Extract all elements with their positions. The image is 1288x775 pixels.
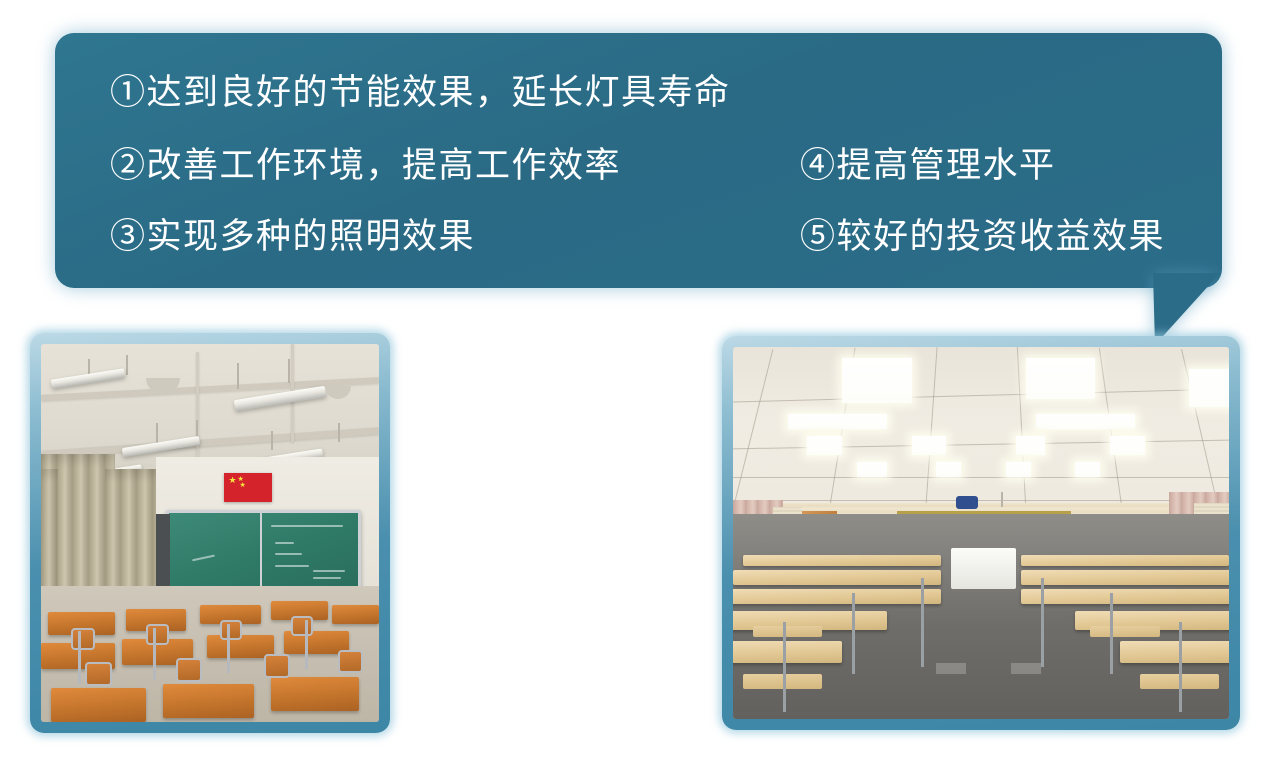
led-panel-light: [788, 414, 887, 429]
led-panel-light: [1189, 369, 1229, 406]
student-desk: [1120, 641, 1229, 663]
student-seat: [753, 626, 822, 637]
desk-leg: [1110, 593, 1113, 675]
student-desk: [51, 688, 146, 722]
chalk-writing: [271, 525, 343, 527]
student-desk: [733, 570, 941, 585]
lamp-rod: [156, 423, 158, 443]
student-chair: [146, 624, 169, 645]
benefits-callout: ①达到良好的节能效果，延长灯具寿命 ②改善工作环境，提高工作效率 ③实现多种的照…: [40, 18, 1240, 338]
photo-before-classroom: ★ ★ ★: [30, 333, 390, 733]
led-panel-light: [1036, 414, 1135, 429]
led-panel-light: [1016, 436, 1046, 455]
desk-leg: [153, 628, 156, 681]
student-desk: [733, 641, 842, 663]
student-desk: [1021, 589, 1229, 604]
led-panel-light: [857, 462, 887, 477]
benefit-item-5: ⑤较好的投资收益效果: [800, 219, 1165, 254]
student-desk: [1021, 570, 1229, 585]
photo-after-classroom: [722, 336, 1240, 730]
student-chair: [338, 650, 363, 673]
ceiling-grid-line: [733, 500, 1229, 501]
chalk-writing: [313, 577, 341, 579]
lamp-rod: [288, 359, 290, 383]
photo-before-image: ★ ★ ★: [41, 344, 379, 722]
student-desk: [271, 677, 359, 711]
benefit-item-3: ③实现多种的照明效果: [110, 219, 475, 254]
desk-leg: [1179, 622, 1182, 711]
chalk-writing: [275, 565, 309, 567]
student-desk: [332, 605, 379, 624]
student-desk: [1021, 555, 1229, 566]
lamp-rod: [338, 423, 340, 442]
wall-speaker: [156, 514, 170, 597]
student-chair: [291, 616, 313, 636]
led-panel-light: [1006, 462, 1031, 477]
desk-leg: [78, 631, 81, 684]
desk-leg: [783, 622, 786, 711]
student-chair: [264, 654, 290, 678]
chalk-writing: [275, 553, 301, 555]
floor-tile: [936, 663, 966, 674]
floor-tile: [1011, 663, 1041, 674]
chalk-writing: [275, 542, 294, 544]
benefit-item-1: ①达到良好的节能效果，延长灯具寿命: [110, 75, 731, 110]
desk-leg: [1041, 578, 1044, 667]
national-flag: ★ ★ ★: [224, 473, 272, 502]
student-desk: [733, 589, 941, 604]
student-chair: [220, 620, 242, 640]
led-panel-light: [1026, 358, 1095, 399]
chalk-writing: [313, 570, 345, 572]
flag-star-icon: ★: [240, 482, 246, 489]
student-chair: [176, 658, 202, 682]
desk-leg: [921, 578, 924, 667]
led-panel-light: [912, 436, 947, 455]
desk-leg: [227, 624, 230, 673]
benefit-item-2: ②改善工作环境，提高工作效率: [110, 148, 621, 183]
chalk-writing: [192, 554, 215, 561]
projector-mount: [1001, 492, 1003, 507]
desk-leg: [305, 620, 308, 669]
desk-leg: [852, 593, 855, 675]
callout-text-block: ①达到良好的节能效果，延长灯具寿命 ②改善工作环境，提高工作效率 ③实现多种的照…: [55, 33, 1222, 288]
led-panel-light: [936, 462, 961, 477]
led-panel-light: [842, 358, 911, 403]
led-panel-light: [1075, 462, 1100, 477]
projector: [956, 496, 978, 509]
led-panel-light: [807, 436, 842, 455]
lamp-rod: [126, 355, 128, 375]
benefit-item-4: ④提高管理水平: [800, 148, 1056, 183]
student-chair: [71, 628, 95, 650]
student-desk: [743, 555, 941, 566]
ceiling-grid-line: [733, 477, 1229, 478]
led-panel-light: [1110, 436, 1145, 455]
lamp-rod: [237, 363, 239, 389]
teacher-podium: [951, 548, 1015, 589]
student-seat: [1090, 626, 1159, 637]
ceiling: [733, 347, 1229, 511]
student-desk: [163, 684, 254, 718]
photo-after-image: [733, 347, 1229, 719]
student-chair: [85, 662, 112, 686]
lamp-rod: [271, 431, 273, 450]
flag-star-icon: ★: [229, 477, 237, 484]
